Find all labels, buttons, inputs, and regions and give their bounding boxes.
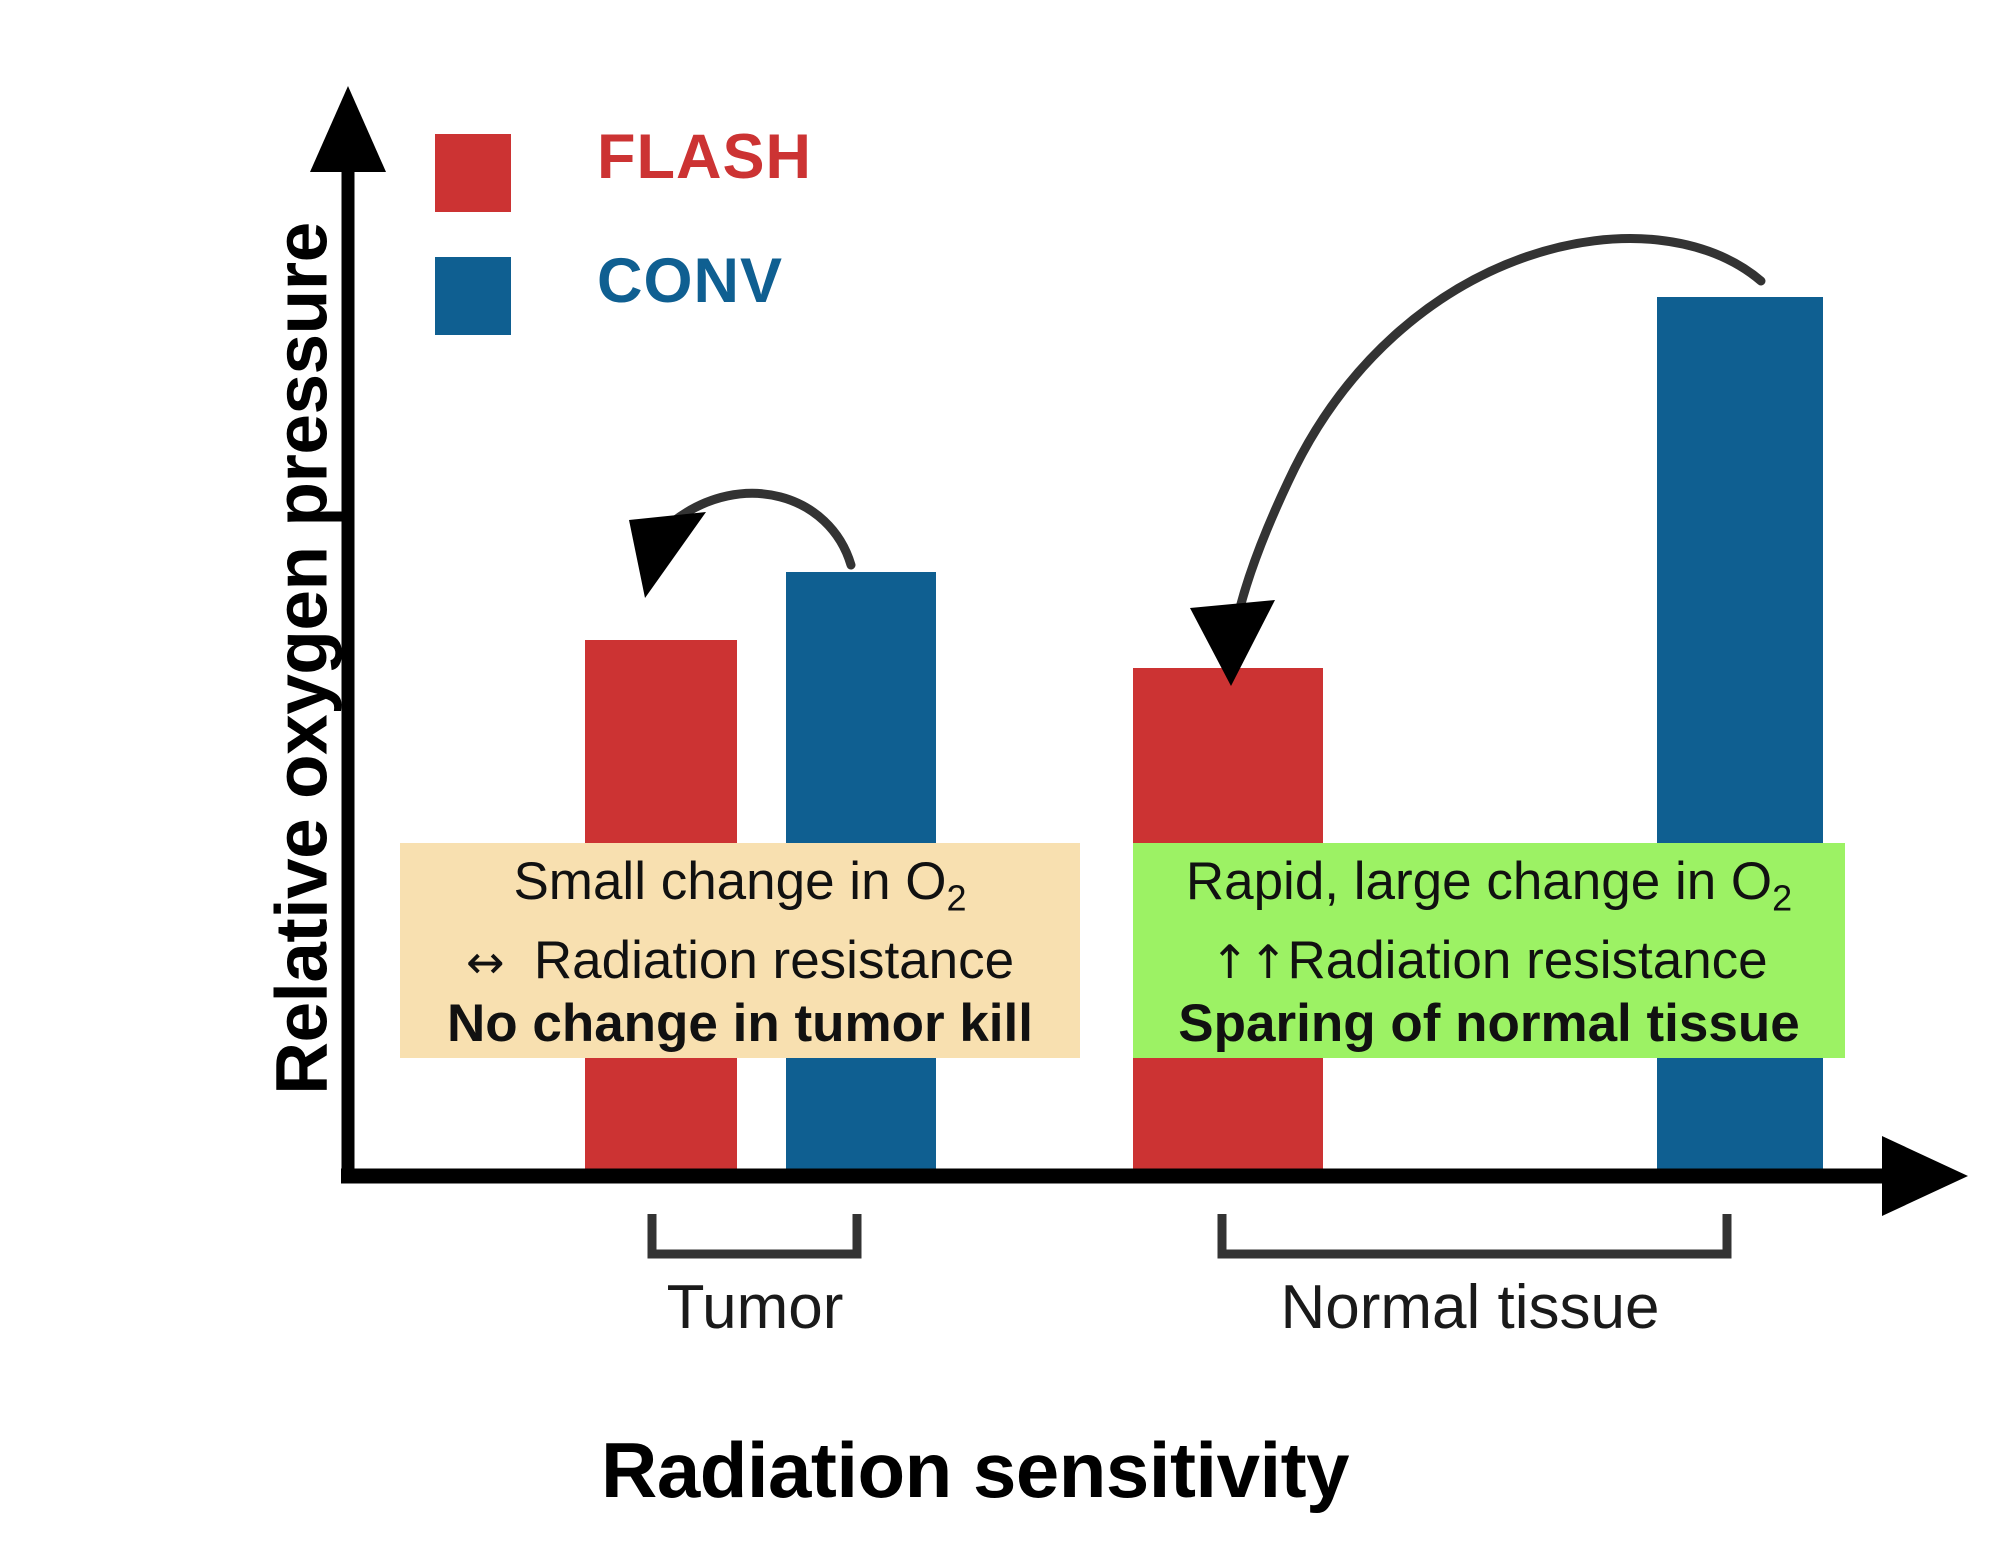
callout-normal-tissue: Rapid, large change in O2 ↑↑Radiation re… bbox=[1133, 843, 1845, 1058]
legend-label-conv: CONV bbox=[597, 245, 783, 317]
callout-tumor-line3: No change in tumor kill bbox=[400, 993, 1080, 1055]
y-axis-title: Relative oxygen pressure bbox=[261, 114, 344, 1204]
callout-tumor-line1: Small change in O2 bbox=[400, 851, 1080, 930]
group-label-normal-tissue: Normal tissue bbox=[1160, 1272, 1780, 1343]
double-up-arrow-icon: ↑↑ bbox=[1210, 935, 1287, 989]
x-axis-title: Radiation sensitivity bbox=[250, 1425, 1700, 1516]
subscript-2: 2 bbox=[947, 878, 967, 919]
callout-tumor: Small change in O2 ↔ Radiation resistanc… bbox=[400, 843, 1080, 1058]
left-right-arrow-icon: ↔ bbox=[466, 935, 505, 989]
callout-normal-line1: Rapid, large change in O2 bbox=[1133, 851, 1845, 930]
legend-swatch-conv bbox=[435, 257, 511, 335]
legend-swatch-flash bbox=[435, 134, 511, 212]
callout-normal-line3: Sparing of normal tissue bbox=[1133, 993, 1845, 1055]
callout-normal-line2: ↑↑Radiation resistance bbox=[1133, 930, 1845, 993]
subscript-2: 2 bbox=[1772, 878, 1792, 919]
callout-tumor-line2: ↔ Radiation resistance bbox=[400, 930, 1080, 993]
legend-label-flash: FLASH bbox=[597, 121, 812, 193]
group-label-tumor: Tumor bbox=[590, 1272, 920, 1343]
figure-root: Small change in O2 ↔ Radiation resistanc… bbox=[0, 0, 2008, 1558]
